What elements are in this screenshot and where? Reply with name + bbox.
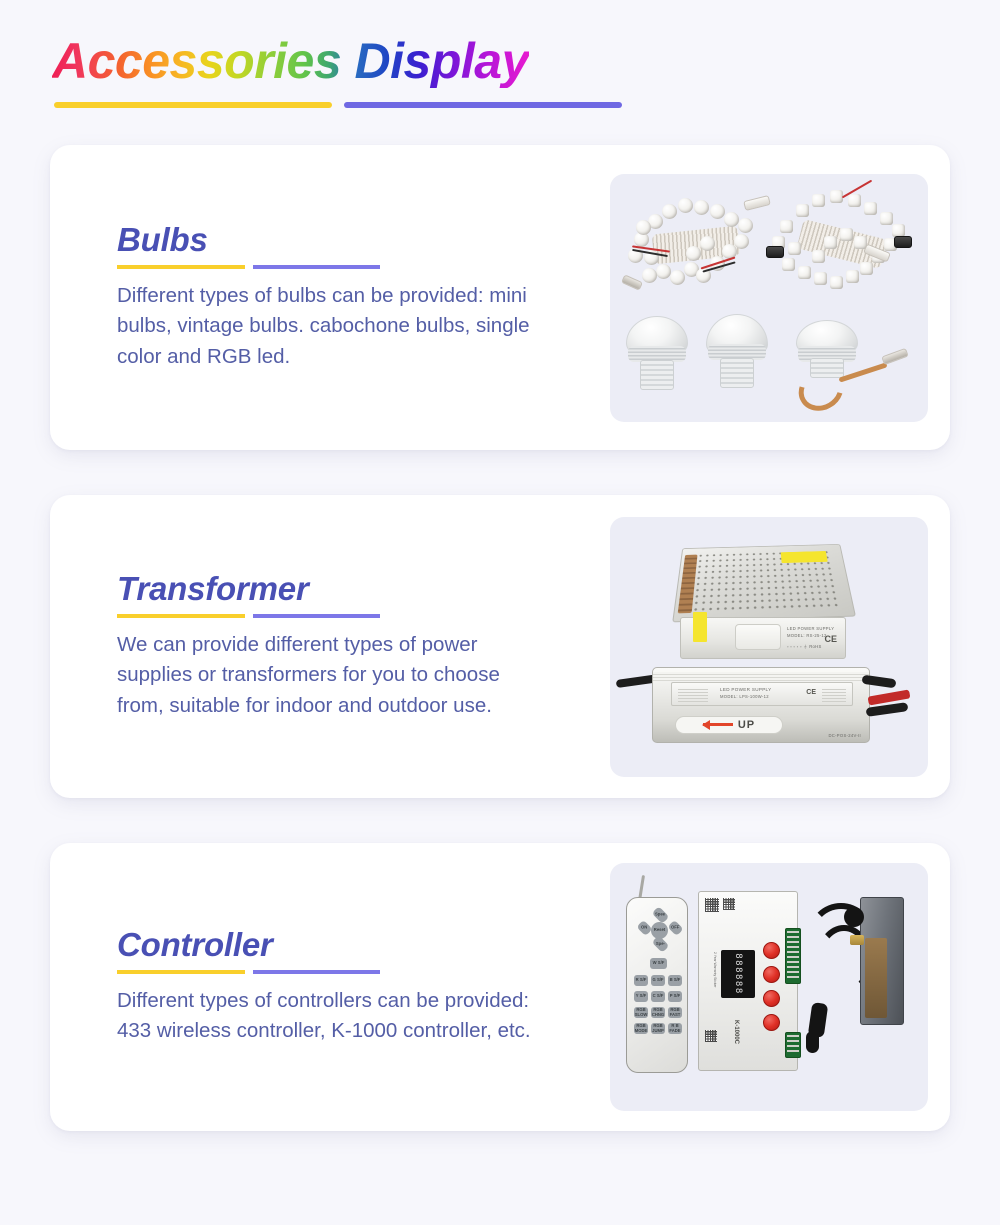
receiver-cable-gland [844,907,864,927]
up-label: UP [738,719,755,731]
card-text-transformer: Transformer We can provide different typ… [72,572,610,721]
indoor-power-supply-front: LED POWER SUPPLY MODEL: RS-25-12 CE ▫ ▫ … [680,617,846,659]
qr-code-icon [723,898,735,910]
remote-key-b[interactable]: B S/F [668,975,682,986]
bulb-end-connector-icon [881,347,909,364]
card-body-transformer: We can provide different types of power … [117,630,547,721]
accessory-card-transformer: Transformer We can provide different typ… [50,495,950,798]
indoor-power-supply-top [672,543,856,621]
bulb-string-bundle-left [626,190,766,300]
yellow-side-label [693,612,707,642]
cabochone-bulb-2 [706,314,768,406]
remote-key-p[interactable]: P S/F [668,991,682,1002]
card-text-controller: Controller Different types of controller… [72,928,610,1047]
card-body-controller: Different types of controllers can be pr… [117,986,547,1047]
up-orientation-badge: UP [675,716,783,734]
wire-connector-icon [743,195,771,211]
terminal-block-bottom [785,1032,801,1058]
heading-underline-purple [253,614,380,618]
product-image-bulbs [610,174,928,422]
remote-key-y[interactable]: Y S/F [634,991,648,1002]
accessory-card-controller: Controller Different types of controller… [50,843,950,1131]
qr-code-icon [705,898,719,912]
yellow-warning-label [781,551,828,563]
ce-mark-icon: CE [806,689,816,696]
controller-button-2[interactable] [763,966,780,983]
black-connector-icon [894,236,912,248]
controller-model-label: K-1000C [733,1020,739,1044]
remote-key-speed-down[interactable]: Spe- [652,935,670,953]
controller-button-3[interactable] [763,990,780,1007]
ce-mark-icon: CE [824,634,837,644]
remote-key-rgb-fade[interactable]: R B FADE [668,1023,682,1034]
cabochone-bulb-1 [626,316,688,406]
card-body-bulbs: Different types of bulbs can be provided… [117,281,547,372]
seven-segment-display: 888888 [721,950,755,998]
heading-underline-group-transformer [117,614,598,618]
accessory-card-bulbs: Bulbs Different types of bulbs can be pr… [50,145,950,450]
remote-key-rgb-jump[interactable]: RGB JUMP [651,1023,665,1034]
page-title-part-1: Accessories [52,33,355,89]
title-underline-purple [344,102,622,108]
wireless-remote: Spee ON Reset OFF Spe- W S/F R S/F G S/F… [626,897,688,1073]
black-connector-icon [766,246,784,258]
sma-antenna-connector [850,935,864,945]
remote-key-off[interactable]: OFF [667,920,683,936]
product-image-transformer: LED POWER SUPPLY MODEL: RS-25-12 CE ▫ ▫ … [610,517,928,777]
ps-spec-plate: LED POWER SUPPLY MODEL: LPS-100W-12 CE [671,682,853,706]
title-underline-yellow [54,102,332,108]
heading-underline-yellow [117,265,245,269]
heading-underline-group-bulbs [117,265,598,269]
qr-code-icon [705,1030,717,1042]
terminal-block-top [785,928,801,984]
heading-underline-group-controller [117,970,598,974]
remote-key-rgb-chng[interactable]: RGB CHNG [651,1007,665,1018]
remote-key-c[interactable]: C S/F [651,991,665,1002]
remote-key-rgb-fast[interactable]: RGB FAST [668,1007,682,1018]
dc-connector-icon [621,274,643,290]
remote-key-rgb-slow[interactable]: RGB SLOW [634,1007,648,1018]
remote-key-r[interactable]: R S/F [634,975,648,986]
card-heading-controller: Controller [117,928,598,961]
heading-underline-purple [253,265,380,269]
card-heading-bulbs: Bulbs [117,223,598,256]
wireless-receiver-box [860,897,904,1025]
card-text-bulbs: Bulbs Different types of bulbs can be pr… [72,223,610,372]
heading-underline-yellow [117,614,245,618]
ps-cover-plate [735,624,781,650]
remote-key-rgb-mode[interactable]: RGB MODE [634,1023,648,1034]
up-arrow-icon [703,723,733,726]
card-heading-transformer: Transformer [117,572,598,605]
receiver-plug-tip [806,1031,819,1053]
page-title: Accessories Display [52,34,529,88]
heading-underline-yellow [117,970,245,974]
controller-button-1[interactable] [763,942,780,959]
remote-key-w[interactable]: W S/F [650,958,667,969]
controller-button-4[interactable] [763,1014,780,1031]
page-title-part-2: Display [355,33,529,89]
title-underline-group [54,102,1000,108]
remote-key-g[interactable]: G S/F [651,975,665,986]
k1000c-controller: 888888 K-1000C 2 Year Warranty Sticker [698,891,798,1071]
bulb-string-bundle-right [768,184,916,304]
product-image-controller: Spee ON Reset OFF Spe- W S/F R S/F G S/F… [610,863,928,1111]
outdoor-power-supply: LED POWER SUPPLY MODEL: LPS-100W-12 CE U… [652,667,870,743]
heading-underline-purple [253,970,380,974]
accessory-card-list: Bulbs Different types of bulbs can be pr… [0,145,1000,1131]
page-header: Accessories Display [0,0,1000,108]
